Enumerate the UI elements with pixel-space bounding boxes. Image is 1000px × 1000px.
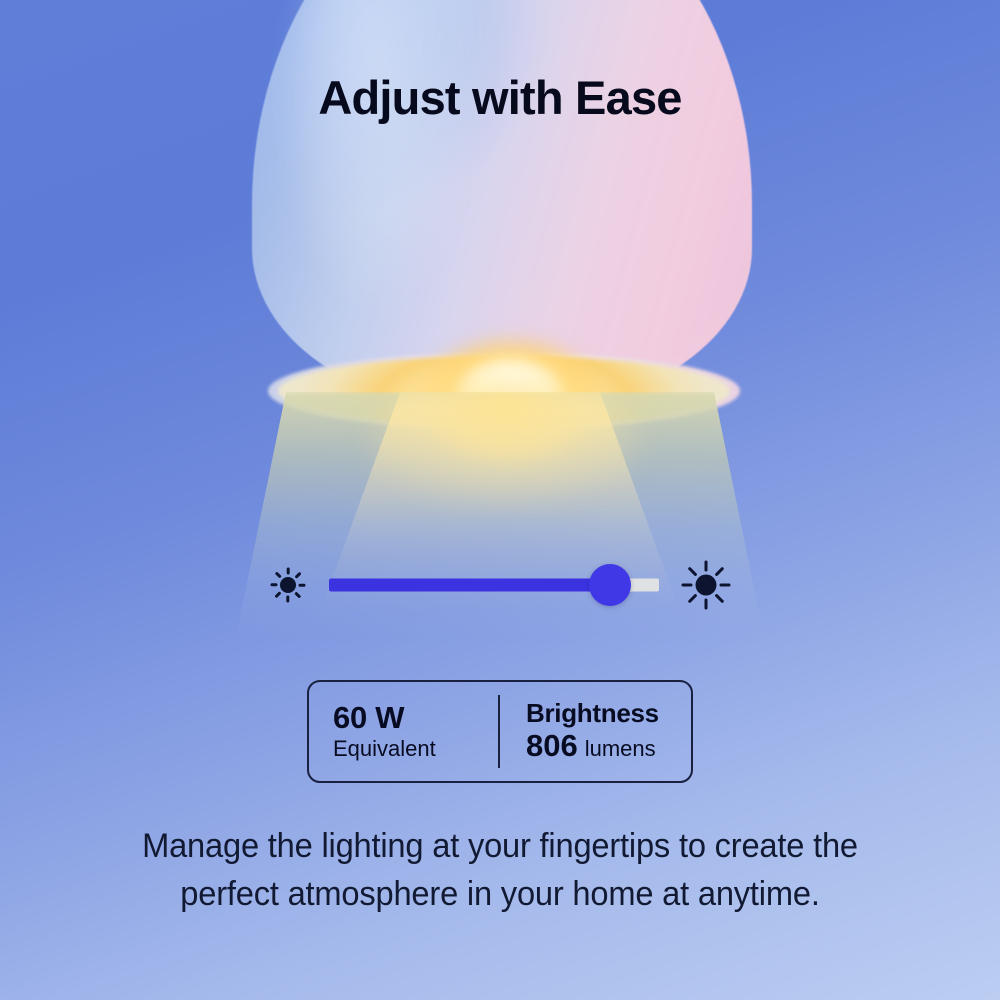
sun-large-icon[interactable] bbox=[680, 559, 732, 611]
spec-box: 60 W Equivalent Brightness 806 lumens bbox=[307, 680, 693, 783]
light-cone-glow bbox=[370, 380, 640, 500]
spec-wattage: 60 W Equivalent bbox=[309, 682, 498, 781]
sun-ray bbox=[295, 572, 302, 579]
sun-small-core bbox=[280, 577, 296, 593]
sun-ray bbox=[287, 568, 290, 575]
brightness-unit: lumens bbox=[585, 736, 656, 762]
spec-brightness: Brightness 806 lumens bbox=[500, 682, 691, 781]
sun-ray bbox=[295, 592, 302, 599]
sun-ray bbox=[299, 584, 306, 587]
page-caption: Manage the lighting at your fingertips t… bbox=[97, 822, 903, 919]
sun-ray bbox=[275, 572, 282, 579]
sun-small-icon[interactable] bbox=[268, 565, 308, 605]
sun-ray bbox=[714, 567, 724, 577]
sun-ray bbox=[720, 584, 731, 587]
slider-thumb[interactable] bbox=[589, 564, 631, 606]
promo-banner: Adjust with Ease bbox=[0, 0, 1000, 1000]
sun-ray bbox=[714, 593, 724, 603]
page-title: Adjust with Ease bbox=[0, 70, 1000, 125]
wattage-label: Equivalent bbox=[333, 736, 498, 762]
sun-large-core bbox=[696, 575, 717, 596]
sun-ray bbox=[271, 584, 278, 587]
sun-ray bbox=[705, 599, 708, 610]
brightness-value-row: 806 lumens bbox=[526, 728, 691, 764]
slider-track[interactable] bbox=[329, 566, 659, 604]
wattage-value: 60 W bbox=[333, 701, 498, 736]
sun-ray bbox=[287, 596, 290, 603]
sun-ray bbox=[275, 592, 282, 599]
sun-ray bbox=[688, 593, 698, 603]
sun-ray bbox=[682, 584, 693, 587]
brightness-value: 806 bbox=[526, 728, 578, 764]
brightness-label: Brightness bbox=[526, 699, 691, 728]
sun-ray bbox=[688, 567, 698, 577]
slider-track-filled bbox=[329, 579, 610, 592]
brightness-slider[interactable] bbox=[268, 556, 732, 614]
sun-ray bbox=[705, 561, 708, 572]
